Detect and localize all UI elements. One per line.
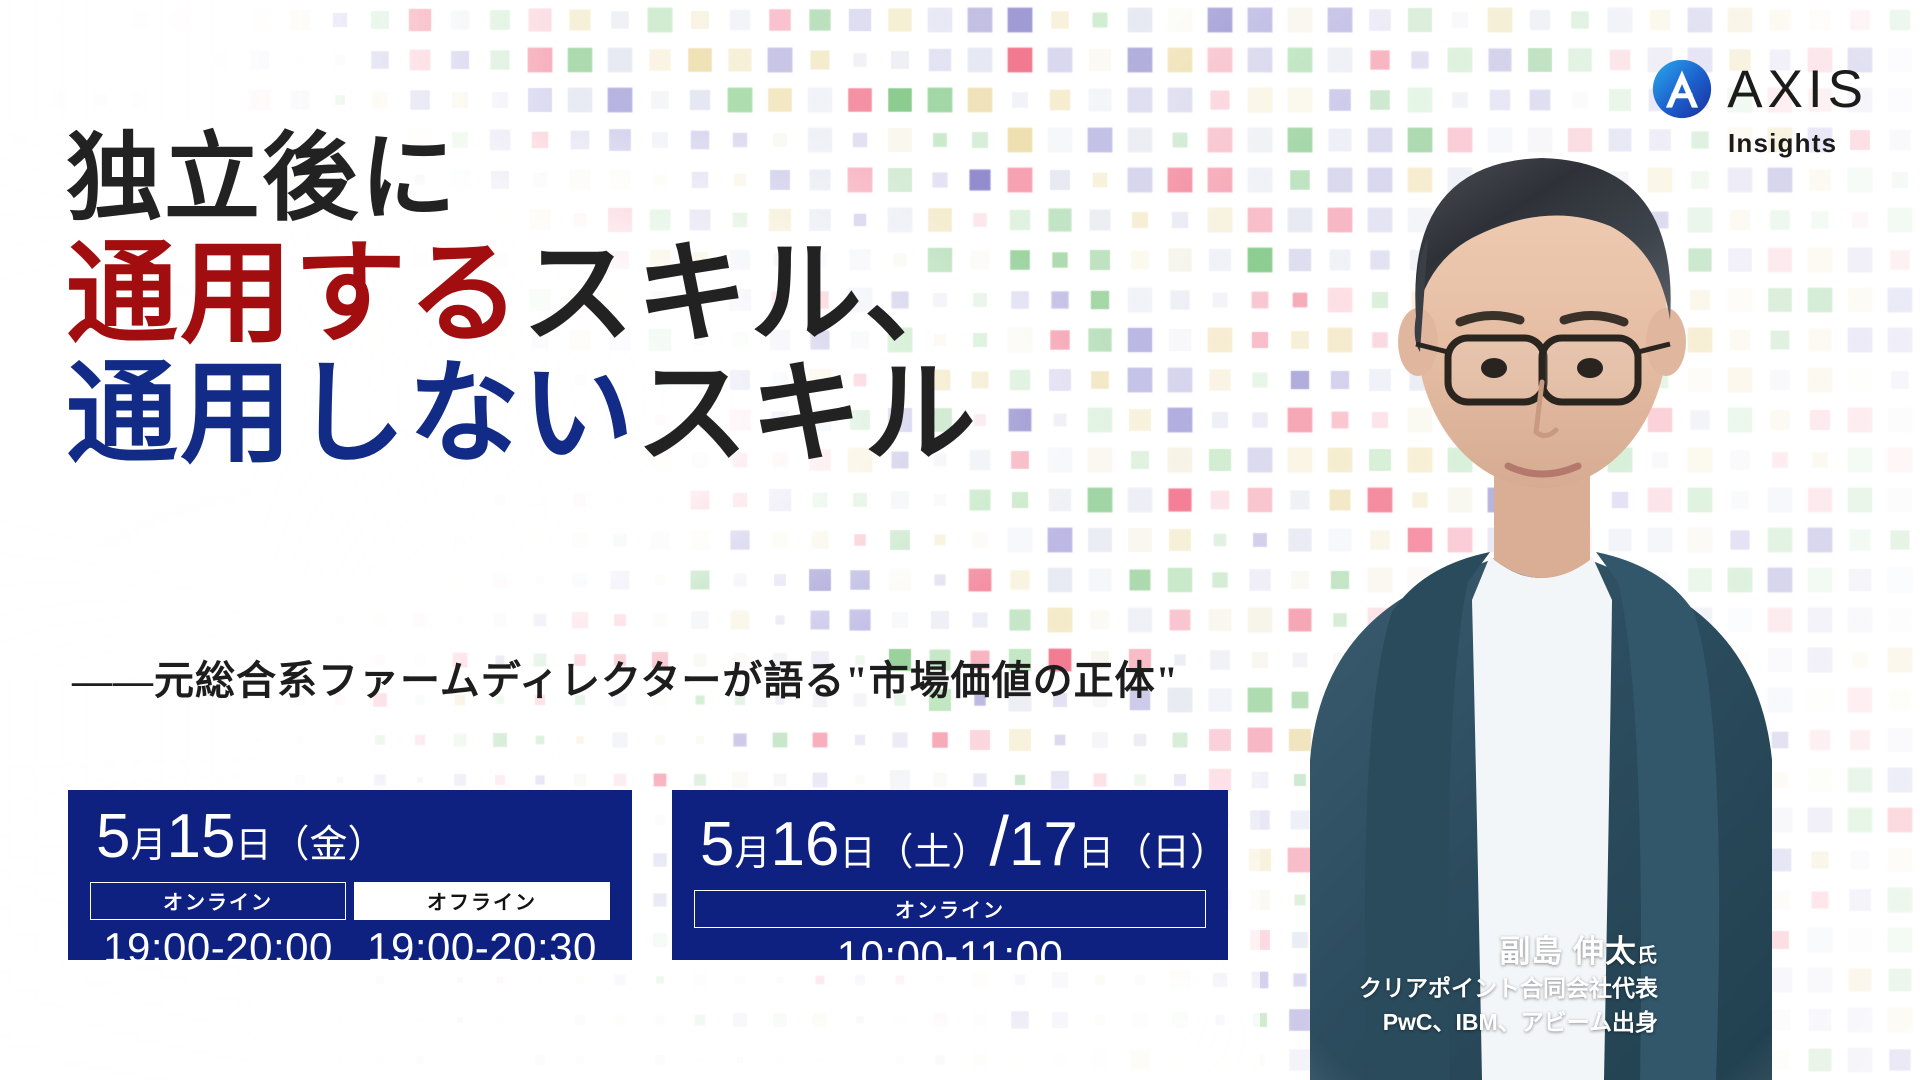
day-unit-2b: 日 [1078,832,1114,873]
webinar-banner: AXIS Insights 独立後に 通用するスキル、 通用しないスキル ——元… [0,0,1920,1080]
day-unit-1: 日 [235,824,271,865]
month-unit-1: 月 [130,824,166,865]
logo-wordmark: AXIS [1727,63,1868,116]
time-online-1: 19:00-20:00 [90,924,346,972]
headline-line-3-rest: スキル [636,353,978,477]
schedule-card-1-date: 5月15日（金） [96,806,610,868]
headline-line-2: 通用するスキル、 [66,236,978,355]
brand-logo: AXIS Insights [1651,58,1868,159]
headline-line-2-rest: スキル、 [522,233,978,357]
weekday-1: （金） [271,824,385,866]
schedule-card-2[interactable]: 5月16日（土）/17日（日） オンライン 10:00-11:00 [672,790,1228,960]
time-offline-1: 19:00-20:30 [354,924,610,972]
mode-badge-offline-1: オフライン [354,882,610,920]
mode-badge-online-2: オンライン [694,890,1206,928]
schedule-slot-offline-1[interactable]: オフライン 19:00-20:30 [354,882,610,972]
speaker-name-suffix: 氏 [1637,945,1658,967]
day-number-2b: 17 [1009,810,1078,879]
speaker-name-row: 副島 伸太氏 [1359,933,1658,970]
logo-tagline: Insights [1728,128,1837,159]
month-number-1: 5 [96,802,130,871]
time-online-2: 10:00-11:00 [694,932,1206,980]
headline-line-3-accent: 通用しない [66,353,636,477]
headline-line-2-accent: 通用する [66,233,522,357]
weekday-2b: （日） [1114,832,1228,874]
schedule-slot-online-1[interactable]: オンライン 19:00-20:00 [90,882,346,972]
date-separator-2: / [990,802,1009,880]
headline-line-1: 独立後に [66,128,978,230]
schedule-slot-online-2[interactable]: オンライン 10:00-11:00 [694,890,1206,980]
schedule-card-1[interactable]: 5月15日（金） オンライン 19:00-20:00 オフライン 19:00-2… [68,790,632,960]
month-number-2: 5 [700,810,734,879]
day-unit-2a: 日 [839,832,875,873]
day-number-2a: 16 [771,810,840,879]
day-number-1: 15 [167,802,236,871]
weekday-2a: （土） [875,832,989,874]
speaker-role-line-2: PwC、IBM、アビーム出身 [1359,1007,1658,1038]
headline-block: 独立後に 通用するスキル、 通用しないスキル [66,128,978,475]
axis-circle-a-icon [1651,58,1713,120]
speaker-caption: 副島 伸太氏 クリアポイント合同会社代表 PwC、IBM、アビーム出身 [1359,933,1658,1038]
mode-badge-online-1: オンライン [90,882,346,920]
headline-line-3: 通用しないスキル [66,356,978,475]
speaker-role-line-1: クリアポイント合同会社代表 [1359,973,1658,1004]
speaker-name: 副島 伸太 [1499,934,1637,969]
subtitle: ——元総合系ファームディレクターが語る"市場価値の正体" [72,648,1179,706]
speaker-portrait [1160,0,1920,1080]
schedule-card-2-date: 5月16日（土）/17日（日） [700,806,1206,876]
schedule-card-1-slots: オンライン 19:00-20:00 オフライン 19:00-20:30 [90,882,610,972]
schedule-card-2-slots: オンライン 10:00-11:00 [694,890,1206,980]
month-unit-2: 月 [734,832,770,873]
